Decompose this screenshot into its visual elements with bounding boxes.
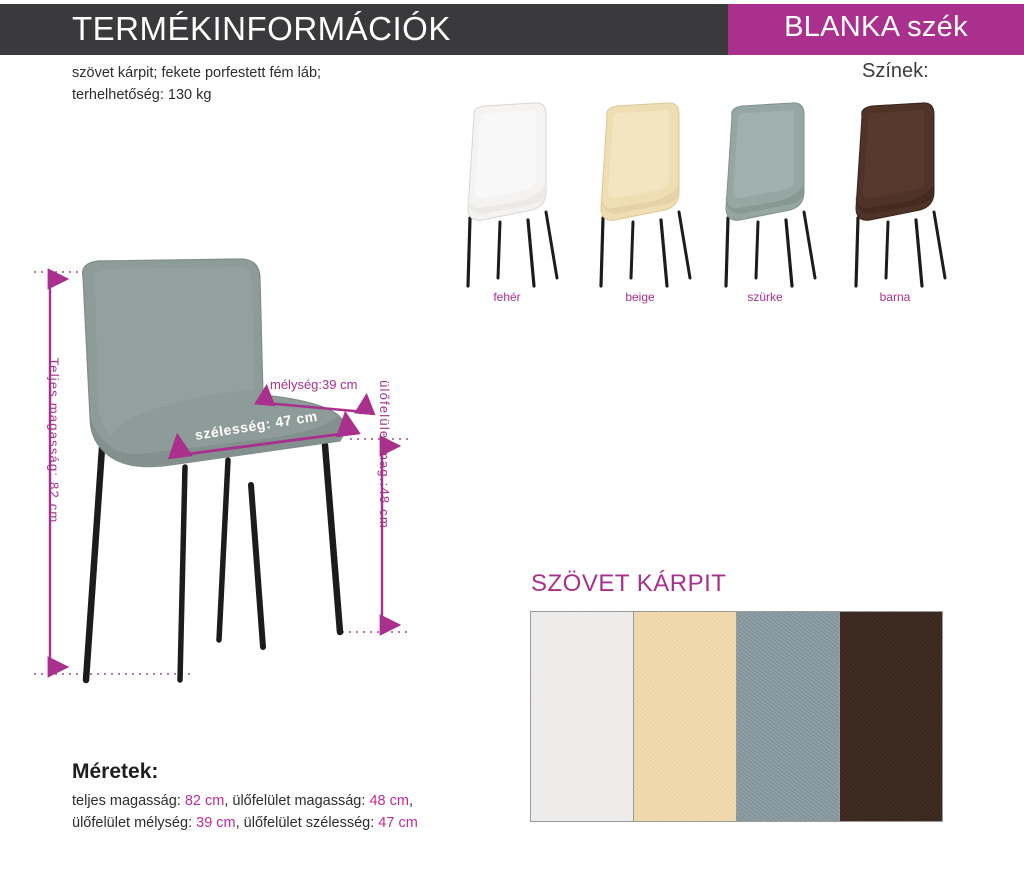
page-header: TERMÉKINFORMÁCIÓK BLANKA szék — [0, 4, 1024, 55]
fabric-swatch-feher[interactable] — [531, 612, 634, 821]
chair-legs — [86, 445, 340, 680]
dimension-diagram: Teljes magasság: 82 cm ülőfelület mag.:4… — [20, 255, 450, 695]
chair-thumbnail-feher — [442, 100, 572, 290]
chair-thumbnail-szurke — [700, 100, 830, 290]
depth-label: mélység:39 cm — [270, 377, 357, 392]
fabric-swatch-barna[interactable] — [840, 612, 942, 821]
fabric-texture-feher — [531, 612, 633, 821]
product-name: BLANKA szék — [728, 11, 1024, 44]
chair-thumbnail-barna — [830, 100, 960, 290]
colors-heading: Színek: — [862, 60, 929, 83]
color-label-barna: barna — [830, 290, 960, 304]
total-height-label: Teljes magasság: 82 cm — [46, 358, 61, 524]
header-dark-panel: TERMÉKINFORMÁCIÓK — [0, 4, 728, 55]
color-option-szurke[interactable]: szürke — [700, 100, 830, 315]
description-line-1: szövet kárpit; fekete porfestett fém láb… — [72, 62, 321, 84]
seat-width-text: , ülőfelület szélesség: — [236, 815, 379, 831]
dimensions-line-2: ülőfelület mélység: 39 cm, ülőfelület sz… — [72, 812, 418, 834]
seat-height-label: ülőfelület mag.:48 cm — [377, 380, 392, 529]
seat-depth-text: ülőfelület mélység: — [72, 815, 196, 831]
dimensions-heading: Méretek: — [72, 760, 158, 784]
total-height-value: 82 cm — [185, 793, 225, 809]
page-title: TERMÉKINFORMÁCIÓK — [72, 10, 451, 48]
color-label-szurke: szürke — [700, 290, 830, 304]
color-option-beige[interactable]: beige — [575, 100, 705, 315]
dimensions-line-1: teljes magasság: 82 cm, ülőfelület magas… — [72, 790, 418, 812]
color-label-beige: beige — [575, 290, 705, 304]
seat-height-value: 48 cm — [369, 793, 409, 809]
total-height-text: teljes magasság: — [72, 793, 185, 809]
fabric-texture-szurke — [737, 612, 839, 821]
seat-height-text: , ülőfelület magasság: — [224, 793, 369, 809]
line1-comma: , — [409, 793, 413, 809]
seat-depth-value: 39 cm — [196, 815, 236, 831]
dimensions-list: teljes magasság: 82 cm, ülőfelület magas… — [72, 790, 418, 834]
fabric-swatch-panel — [530, 611, 943, 822]
product-description: szövet kárpit; fekete porfestett fém láb… — [72, 62, 321, 106]
description-line-2: terhelhetőség: 130 kg — [72, 84, 321, 106]
color-option-barna[interactable]: barna — [830, 100, 960, 315]
fabric-heading: SZÖVET KÁRPIT — [531, 570, 726, 598]
seat-width-value: 47 cm — [378, 815, 418, 831]
chair-thumbnail-beige — [575, 100, 705, 290]
header-accent-panel: BLANKA szék — [728, 4, 1024, 55]
fabric-swatch-beige[interactable] — [634, 612, 737, 821]
fabric-swatch-szurke[interactable] — [737, 612, 840, 821]
fabric-texture-barna — [840, 612, 942, 821]
fabric-texture-beige — [634, 612, 736, 821]
color-label-feher: fehér — [442, 290, 572, 304]
color-option-feher[interactable]: fehér — [442, 100, 572, 315]
